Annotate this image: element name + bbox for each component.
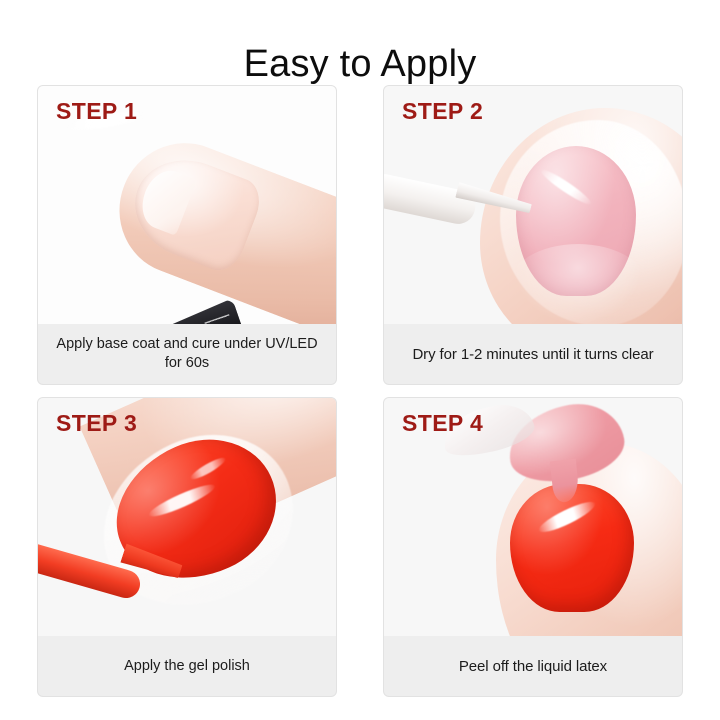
step-card-2[interactable]: STEP 2 Dry for 1-2 minutes until it turn… (384, 86, 682, 384)
finger-illustration (100, 124, 336, 324)
step-card-1[interactable]: STEP 1 Apply base coat and cure under UV… (38, 86, 336, 384)
cuticle-highlight (508, 244, 648, 324)
step-card-3[interactable]: STEP 3 Apply the gel polish (38, 398, 336, 696)
step-label-4: STEP 4 (402, 410, 483, 437)
step-caption-3: Apply the gel polish (48, 636, 326, 696)
nail-tip-illustration (135, 164, 198, 236)
page-title: Easy to Apply (0, 39, 720, 89)
step-label-3: STEP 3 (56, 410, 137, 437)
step-label-1: STEP 1 (56, 98, 137, 125)
nail-illustration (121, 144, 267, 277)
steps-grid: STEP 1 Apply base coat and cure under UV… (38, 86, 682, 690)
step-caption-4: Peel off the liquid latex (394, 636, 672, 696)
brush-bristles-icon (145, 298, 246, 324)
nail-illustration (510, 484, 634, 612)
step-caption-2: Dry for 1-2 minutes until it turns clear (394, 324, 672, 384)
step-card-4[interactable]: STEP 4 Peel off the liquid latex (384, 398, 682, 696)
step-caption-1: Apply base coat and cure under UV/LED fo… (48, 324, 326, 384)
step-label-2: STEP 2 (402, 98, 483, 125)
